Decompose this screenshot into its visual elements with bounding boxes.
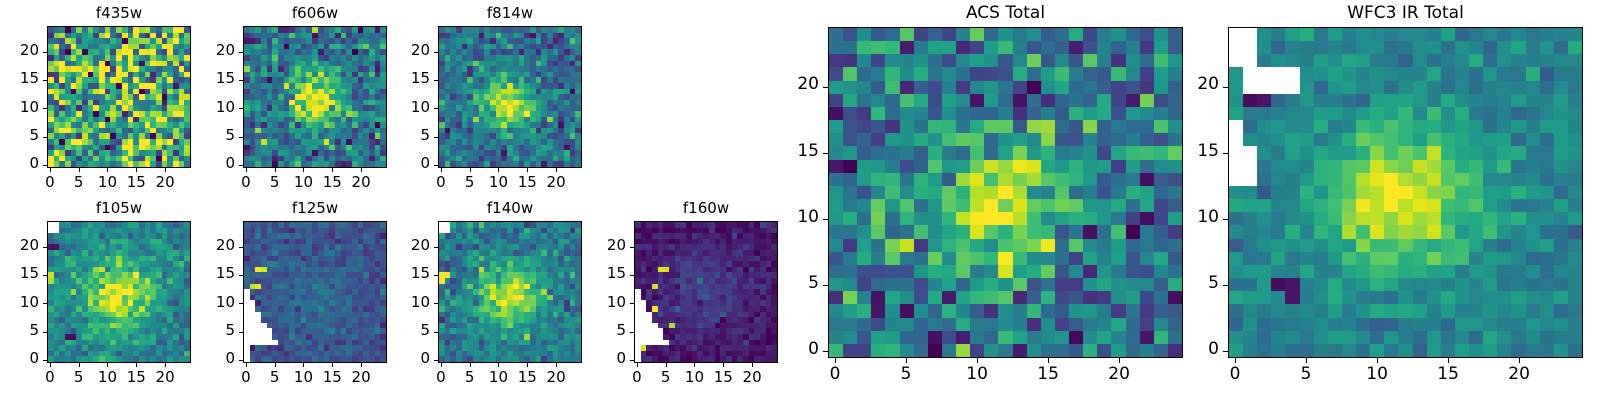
x-tick-label: 20 — [339, 368, 383, 386]
heatmap-cell — [914, 81, 928, 94]
heatmap-cell — [970, 94, 984, 107]
heatmap-cell — [1055, 120, 1069, 133]
heatmap-cell — [1168, 160, 1182, 173]
x-tick — [275, 168, 276, 172]
heatmap-cell — [942, 265, 956, 278]
heatmap-cell — [998, 239, 1012, 252]
heatmap-cell — [885, 160, 899, 173]
x-tick — [107, 168, 108, 172]
heatmap-cell — [843, 94, 857, 107]
heatmap-cell — [956, 81, 970, 94]
heatmap-cell — [1083, 186, 1097, 199]
y-tick-label: 5 — [0, 126, 39, 144]
heatmap-cell — [1140, 212, 1154, 225]
heatmap-cell — [1126, 252, 1140, 265]
heatmap-cell — [829, 252, 843, 265]
heatmap-cell — [871, 186, 885, 199]
heatmap-cell — [984, 107, 998, 120]
heatmap-cell — [871, 265, 885, 278]
heatmap-acs_total — [828, 27, 1183, 358]
y-tick — [239, 108, 243, 109]
x-tick — [556, 168, 557, 172]
heatmap-cell — [956, 107, 970, 120]
heatmap-cell — [843, 28, 857, 41]
y-tick — [43, 332, 47, 333]
heatmap-cell — [1168, 54, 1182, 67]
heatmap-cell — [829, 265, 843, 278]
y-tick-label: 20 — [191, 236, 235, 254]
heatmap-cell — [1055, 239, 1069, 252]
heatmap-cell — [914, 120, 928, 133]
heatmap-cell — [871, 54, 885, 67]
x-tick — [441, 363, 442, 367]
heatmap-cell — [1027, 160, 1041, 173]
heatmap-cell — [942, 120, 956, 133]
heatmap-cell — [928, 133, 942, 146]
heatmap-cell — [1097, 252, 1111, 265]
heatmap-cell — [984, 173, 998, 186]
heatmap-cell — [956, 67, 970, 80]
heatmap-cell — [1069, 41, 1083, 54]
heatmap-cell — [1140, 186, 1154, 199]
heatmap-cell — [1140, 94, 1154, 107]
heatmap-f814w — [438, 26, 582, 168]
heatmap-cell — [1027, 199, 1041, 212]
heatmap-cell — [1013, 160, 1027, 173]
heatmap-cell — [1041, 212, 1055, 225]
heatmap-cell — [857, 212, 871, 225]
heatmap-cell — [1097, 225, 1111, 238]
heatmap-cell — [1013, 265, 1027, 278]
heatmap-cell — [900, 120, 914, 133]
heatmap-cell — [885, 186, 899, 199]
heatmap-cell — [928, 146, 942, 159]
y-tick-label: 15 — [582, 264, 626, 282]
heatmap-cell — [1027, 225, 1041, 238]
heatmap-cell — [829, 146, 843, 159]
heatmap-cell — [956, 186, 970, 199]
heatmap-cell — [928, 67, 942, 80]
heatmap-cell — [1013, 54, 1027, 67]
heatmap-cell — [1055, 265, 1069, 278]
heatmap-cell — [843, 81, 857, 94]
figure-canvas: f435w0510152005101520f606w05101520051015… — [0, 0, 1600, 400]
heatmap-cell — [1168, 94, 1182, 107]
heatmap-f435w — [47, 26, 191, 168]
panel-title-f140w: f140w — [438, 199, 582, 217]
heatmap-cell — [1140, 133, 1154, 146]
heatmap-cell — [1069, 133, 1083, 146]
heatmap-cell — [1126, 94, 1140, 107]
heatmap-cell — [1013, 107, 1027, 120]
x-tick — [723, 363, 724, 367]
heatmap-cell — [1055, 54, 1069, 67]
x-tick — [637, 363, 638, 367]
heatmap-cell — [1097, 160, 1111, 173]
heatmap-cell — [1111, 252, 1125, 265]
x-tick — [165, 168, 166, 172]
heatmap-cell — [998, 41, 1012, 54]
heatmap-cell — [1168, 28, 1182, 41]
heatmap-cell — [1140, 225, 1154, 238]
heatmap-cell — [575, 356, 581, 362]
heatmap-cell — [1083, 120, 1097, 133]
heatmap-cell — [900, 146, 914, 159]
heatmap-cell — [970, 133, 984, 146]
x-tick-label: 20 — [730, 368, 774, 386]
heatmap-cell — [1041, 28, 1055, 41]
heatmap-cell — [1168, 252, 1182, 265]
heatmap-cell — [1041, 120, 1055, 133]
heatmap-cell — [956, 239, 970, 252]
heatmap-cell — [1126, 81, 1140, 94]
y-tick — [239, 137, 243, 138]
heatmap-cell — [970, 67, 984, 80]
heatmap-cell — [1154, 54, 1168, 67]
heatmap-cell — [1097, 67, 1111, 80]
heatmap-cell — [984, 186, 998, 199]
heatmap-cell — [956, 41, 970, 54]
heatmap-cell — [1027, 146, 1041, 159]
y-tick-label: 20 — [386, 236, 430, 254]
heatmap-cell — [942, 94, 956, 107]
y-tick — [434, 247, 438, 248]
y-tick-label: 20 — [191, 41, 235, 59]
heatmap-cell — [1097, 54, 1111, 67]
x-tick-label: 20 — [534, 368, 578, 386]
heatmap-cell — [1154, 252, 1168, 265]
x-tick — [136, 363, 137, 367]
y-tick-label: 15 — [0, 264, 39, 282]
heatmap-cell — [1041, 225, 1055, 238]
heatmap-cell — [1055, 41, 1069, 54]
y-tick — [434, 303, 438, 304]
heatmap-cell — [1140, 67, 1154, 80]
heatmap-cell — [1097, 199, 1111, 212]
heatmap-cell — [1097, 41, 1111, 54]
heatmap-cell — [1069, 212, 1083, 225]
heatmap-cell — [1154, 160, 1168, 173]
heatmap-cell — [871, 160, 885, 173]
heatmap-cell — [1140, 54, 1154, 67]
heatmap-cell — [871, 120, 885, 133]
heatmap-cell — [900, 199, 914, 212]
heatmap-cell — [1013, 225, 1027, 238]
heatmap-cell — [942, 252, 956, 265]
heatmap-cell — [998, 54, 1012, 67]
heatmap-cell — [970, 252, 984, 265]
heatmap-cell — [928, 160, 942, 173]
heatmap-cell — [885, 28, 899, 41]
heatmap-cell — [1168, 173, 1182, 186]
heatmap-cell — [1140, 41, 1154, 54]
heatmap-cell — [1126, 160, 1140, 173]
heatmap-cell — [843, 41, 857, 54]
heatmap-cell — [984, 41, 998, 54]
heatmap-cell — [998, 133, 1012, 146]
heatmap-cell — [1041, 133, 1055, 146]
y-tick — [239, 303, 243, 304]
heatmap-cell — [900, 265, 914, 278]
heatmap-cell — [857, 173, 871, 186]
heatmap-cell — [1126, 225, 1140, 238]
heatmap-cell — [998, 173, 1012, 186]
heatmap-cell — [1013, 67, 1027, 80]
y-tick-label: 15 — [0, 69, 39, 87]
heatmap-cell — [1111, 160, 1125, 173]
heatmap-cell — [843, 173, 857, 186]
heatmap-cell — [829, 133, 843, 146]
heatmap-cell — [1083, 28, 1097, 41]
heatmap-cell — [900, 239, 914, 252]
panel-title-f105w: f105w — [47, 199, 191, 217]
heatmap-cell — [1140, 120, 1154, 133]
x-tick-label: 20 — [534, 173, 578, 191]
heatmap-cell — [956, 225, 970, 238]
heatmap-cell — [914, 94, 928, 107]
heatmap-cell — [942, 160, 956, 173]
heatmap-cell — [1013, 120, 1027, 133]
heatmap-cell — [984, 81, 998, 94]
heatmap-cell — [900, 252, 914, 265]
y-tick — [434, 165, 438, 166]
y-tick — [43, 303, 47, 304]
heatmap-cell — [1111, 107, 1125, 120]
heatmap-cell — [1140, 252, 1154, 265]
y-tick — [43, 275, 47, 276]
heatmap-cell — [970, 81, 984, 94]
heatmap-cell — [1013, 41, 1027, 54]
heatmap-cell — [1083, 199, 1097, 212]
heatmap-cell — [998, 146, 1012, 159]
heatmap-cell — [829, 199, 843, 212]
heatmap-cell — [998, 265, 1012, 278]
heatmap-cell — [829, 67, 843, 80]
heatmap-cell — [857, 67, 871, 80]
x-tick — [498, 168, 499, 172]
heatmap-cell — [857, 41, 871, 54]
x-tick-label: 20 — [143, 173, 187, 191]
heatmap-cell — [956, 199, 970, 212]
heatmap-cell — [942, 199, 956, 212]
x-tick — [470, 168, 471, 172]
heatmap-cell — [914, 225, 928, 238]
heatmap-cell — [970, 212, 984, 225]
heatmap-cell — [984, 94, 998, 107]
heatmap-cell — [928, 94, 942, 107]
heatmap-cell — [970, 54, 984, 67]
y-tick-label: 5 — [582, 321, 626, 339]
heatmap-cell — [970, 239, 984, 252]
heatmap-cell — [1013, 94, 1027, 107]
x-tick — [275, 363, 276, 367]
heatmap-cell — [1055, 225, 1069, 238]
heatmap-cell — [900, 212, 914, 225]
heatmap-cell — [942, 186, 956, 199]
heatmap-cell — [942, 225, 956, 238]
heatmap-cell — [998, 225, 1012, 238]
heatmap-cell — [970, 146, 984, 159]
heatmap-cell — [843, 212, 857, 225]
heatmap-cell — [1069, 252, 1083, 265]
heatmap-cell — [1111, 133, 1125, 146]
heatmap-cell — [1027, 28, 1041, 41]
heatmap-cell — [1083, 225, 1097, 238]
heatmap-cell — [871, 133, 885, 146]
heatmap-f125w — [243, 221, 387, 363]
heatmap-cell — [857, 81, 871, 94]
heatmap-cell — [1027, 265, 1041, 278]
heatmap-cell — [829, 186, 843, 199]
heatmap-cell — [1154, 41, 1168, 54]
heatmap-cell — [1041, 94, 1055, 107]
heatmap-f140w — [438, 221, 582, 363]
heatmap-cell — [857, 28, 871, 41]
heatmap-cell — [885, 146, 899, 159]
heatmap-cell — [984, 67, 998, 80]
heatmap-cell — [1069, 160, 1083, 173]
heatmap-cell — [843, 199, 857, 212]
heatmap-cell — [914, 107, 928, 120]
heatmap-cell — [942, 212, 956, 225]
heatmap-cell — [970, 225, 984, 238]
heatmap-cell — [900, 54, 914, 67]
heatmap-cell — [1041, 81, 1055, 94]
heatmap-cell — [1055, 67, 1069, 80]
heatmap-cell — [956, 54, 970, 67]
heatmap-cell — [1027, 173, 1041, 186]
heatmap-cell — [829, 160, 843, 173]
heatmap-cell — [928, 54, 942, 67]
heatmap-cell — [871, 67, 885, 80]
heatmap-cell — [857, 160, 871, 173]
heatmap-cell — [1055, 199, 1069, 212]
heatmap-cell — [928, 252, 942, 265]
heatmap-cell — [1083, 94, 1097, 107]
heatmap-cell — [942, 28, 956, 41]
x-tick — [50, 168, 51, 172]
heatmap-cell — [1111, 94, 1125, 107]
y-tick-label: 0 — [386, 154, 430, 172]
heatmap-cell — [970, 186, 984, 199]
heatmap-cell — [942, 67, 956, 80]
x-tick — [752, 363, 753, 367]
heatmap-cell — [885, 225, 899, 238]
heatmap-cell — [956, 160, 970, 173]
heatmap-cell — [1069, 225, 1083, 238]
heatmap-cell — [914, 199, 928, 212]
heatmap-cell — [1027, 133, 1041, 146]
y-tick-label: 0 — [191, 154, 235, 172]
heatmap-cell — [956, 173, 970, 186]
heatmap-cell — [1111, 199, 1125, 212]
heatmap-cell — [1069, 173, 1083, 186]
heatmap-cell — [885, 107, 899, 120]
heatmap-cell — [857, 107, 871, 120]
heatmap-cell — [1013, 173, 1027, 186]
heatmap-cell — [829, 41, 843, 54]
heatmap-cell — [1069, 67, 1083, 80]
heatmap-cell — [942, 81, 956, 94]
y-tick-label: 10 — [386, 293, 430, 311]
heatmap-cell — [914, 67, 928, 80]
heatmap-cell — [1111, 186, 1125, 199]
heatmap-cell — [1069, 54, 1083, 67]
heatmap-cell — [914, 186, 928, 199]
heatmap-cell — [871, 199, 885, 212]
x-tick — [527, 168, 528, 172]
heatmap-cell — [843, 133, 857, 146]
y-tick-label: 5 — [191, 321, 235, 339]
y-tick — [239, 275, 243, 276]
heatmap-cell — [900, 186, 914, 199]
heatmap-cell — [1041, 54, 1055, 67]
heatmap-cell — [1140, 173, 1154, 186]
y-tick-label: 10 — [191, 98, 235, 116]
x-tick — [303, 363, 304, 367]
heatmap-cell — [1154, 186, 1168, 199]
y-tick-label: 0 — [386, 349, 430, 367]
heatmap-cell — [1154, 212, 1168, 225]
heatmap-cell — [885, 54, 899, 67]
heatmap-cell — [871, 146, 885, 159]
heatmap-cell — [1111, 67, 1125, 80]
heatmap-cell — [984, 239, 998, 252]
heatmap-cell — [998, 107, 1012, 120]
x-tick — [498, 363, 499, 367]
heatmap-cell — [1069, 94, 1083, 107]
heatmap-cell — [956, 146, 970, 159]
heatmap-cell — [1069, 239, 1083, 252]
heatmap-cell — [1055, 252, 1069, 265]
heatmap-cell — [1027, 212, 1041, 225]
heatmap-cell — [1083, 81, 1097, 94]
heatmap-cell — [1126, 199, 1140, 212]
x-tick-label: 20 — [339, 173, 383, 191]
heatmap-cell — [1055, 212, 1069, 225]
y-tick-label: 5 — [0, 321, 39, 339]
y-tick-label: 15 — [191, 264, 235, 282]
heatmap-cell — [1083, 252, 1097, 265]
heatmap-cell — [1126, 120, 1140, 133]
heatmap-cell — [1055, 81, 1069, 94]
heatmap-cell — [1069, 146, 1083, 159]
heatmap-cell — [1168, 225, 1182, 238]
heatmap-cell — [843, 107, 857, 120]
heatmap-cell — [984, 199, 998, 212]
heatmap-cell — [1140, 239, 1154, 252]
heatmap-f606w — [243, 26, 387, 168]
heatmap-cell — [914, 239, 928, 252]
heatmap-cell — [1069, 199, 1083, 212]
heatmap-cell — [1027, 120, 1041, 133]
heatmap-cell — [970, 120, 984, 133]
heatmap-cell — [843, 120, 857, 133]
heatmap-cell — [871, 212, 885, 225]
y-tick — [43, 137, 47, 138]
y-tick-label: 0 — [0, 349, 39, 367]
heatmap-cell — [928, 239, 942, 252]
heatmap-cell — [829, 173, 843, 186]
heatmap-cell — [1041, 186, 1055, 199]
y-tick — [434, 275, 438, 276]
panel-title-f125w: f125w — [243, 199, 387, 217]
heatmap-cell — [998, 160, 1012, 173]
heatmap-cell — [1140, 107, 1154, 120]
heatmap-cell — [942, 173, 956, 186]
heatmap-cell — [885, 252, 899, 265]
heatmap-cell — [829, 107, 843, 120]
